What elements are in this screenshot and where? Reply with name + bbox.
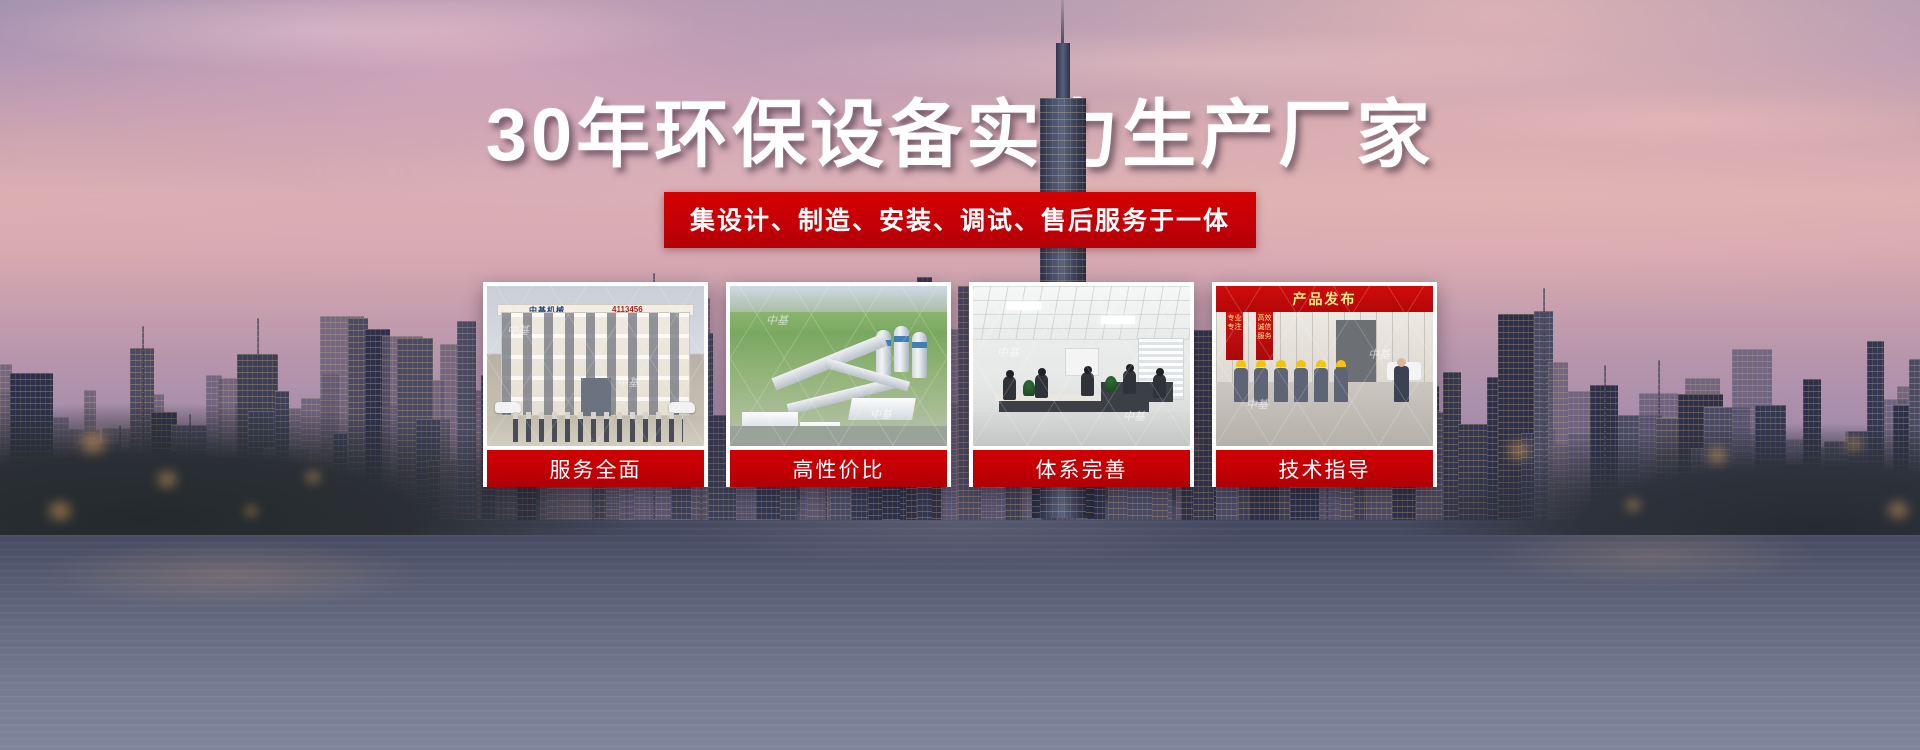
plant-road — [730, 426, 947, 446]
building-entrance — [581, 378, 611, 416]
office-worker — [1123, 370, 1136, 394]
supervisor — [1394, 366, 1409, 402]
office-worker — [1035, 374, 1048, 398]
card-caption-system: 体系完善 — [973, 446, 1190, 487]
worker-with-helmet — [1274, 368, 1288, 402]
office-ceiling — [973, 286, 1190, 340]
product-launch-banner-text: 产品发布 — [1293, 289, 1357, 309]
ceiling-light — [1007, 302, 1041, 310]
hero-banner: 30年环保设备实力生产厂家 集设计、制造、安装、调试、售后服务于一体 中基机械 … — [0, 0, 1920, 750]
office-worker — [1153, 374, 1166, 398]
watermark-text: 中基 — [507, 322, 529, 338]
staff-lineup — [513, 412, 683, 442]
photo-office: 中基 中基 — [973, 286, 1190, 446]
page-title: 30年环保设备实力生产厂家 — [0, 98, 1920, 172]
card-caption-value: 高性价比 — [730, 446, 947, 487]
worker-with-helmet — [1334, 368, 1348, 402]
desk-plant — [1023, 380, 1035, 396]
office-worker — [1081, 372, 1094, 396]
feature-card-service[interactable]: 中基机械 4113456 中基 中基 服务全面 — [483, 282, 708, 487]
subtitle-badge: 集设计、制造、安装、调试、售后服务于一体 — [664, 192, 1256, 248]
vertical-banner-left-text: 专业 专注 — [1226, 312, 1243, 333]
watermark-text: 中基 — [870, 406, 892, 422]
office-worker — [1003, 376, 1016, 400]
desk-plant — [1105, 376, 1117, 392]
feature-card-guidance[interactable]: 产品发布 专业 专注 高效 诚信服务 中基 中基 — [1212, 282, 1437, 487]
watermark-text: 中基 — [1123, 408, 1145, 424]
worker-with-helmet — [1314, 368, 1328, 402]
office-floor — [973, 412, 1190, 446]
vertical-banner-right-text: 高效 诚信服务 — [1256, 312, 1273, 341]
card-caption-guidance: 技术指导 — [1216, 446, 1433, 487]
plant-horizon — [730, 286, 947, 312]
river-water — [0, 500, 1920, 750]
watermark-text: 中基 — [997, 344, 1019, 360]
photo-company-building: 中基机械 4113456 中基 中基 — [487, 286, 704, 446]
watermark-text: 中基 — [1368, 346, 1390, 362]
water-reflection — [0, 500, 1920, 750]
wall-artwork — [1065, 348, 1099, 376]
watermark-text: 中基 — [766, 312, 788, 328]
ceiling-light — [1101, 316, 1135, 324]
card-caption-service: 服务全面 — [487, 446, 704, 487]
feature-card-value[interactable]: 中基 中基 高性价比 — [726, 282, 951, 487]
worker-with-helmet — [1294, 368, 1308, 402]
vertical-banner-left: 专业 专注 — [1226, 312, 1243, 360]
watermark-text: 中基 — [617, 374, 639, 390]
photo-factory-briefing: 产品发布 专业 专注 高效 诚信服务 中基 中基 — [1216, 286, 1433, 446]
feature-card-system[interactable]: 中基 中基 体系完善 — [969, 282, 1194, 487]
feature-card-list: 中基机械 4113456 中基 中基 服务全面 — [483, 282, 1437, 487]
tower-crown — [1056, 43, 1070, 105]
photo-concrete-plant: 中基 中基 — [730, 286, 947, 446]
right-riverbank-trees — [1400, 375, 1920, 535]
vertical-banner-right: 高效 诚信服务 — [1256, 312, 1273, 360]
watermark-text: 中基 — [1246, 396, 1268, 412]
